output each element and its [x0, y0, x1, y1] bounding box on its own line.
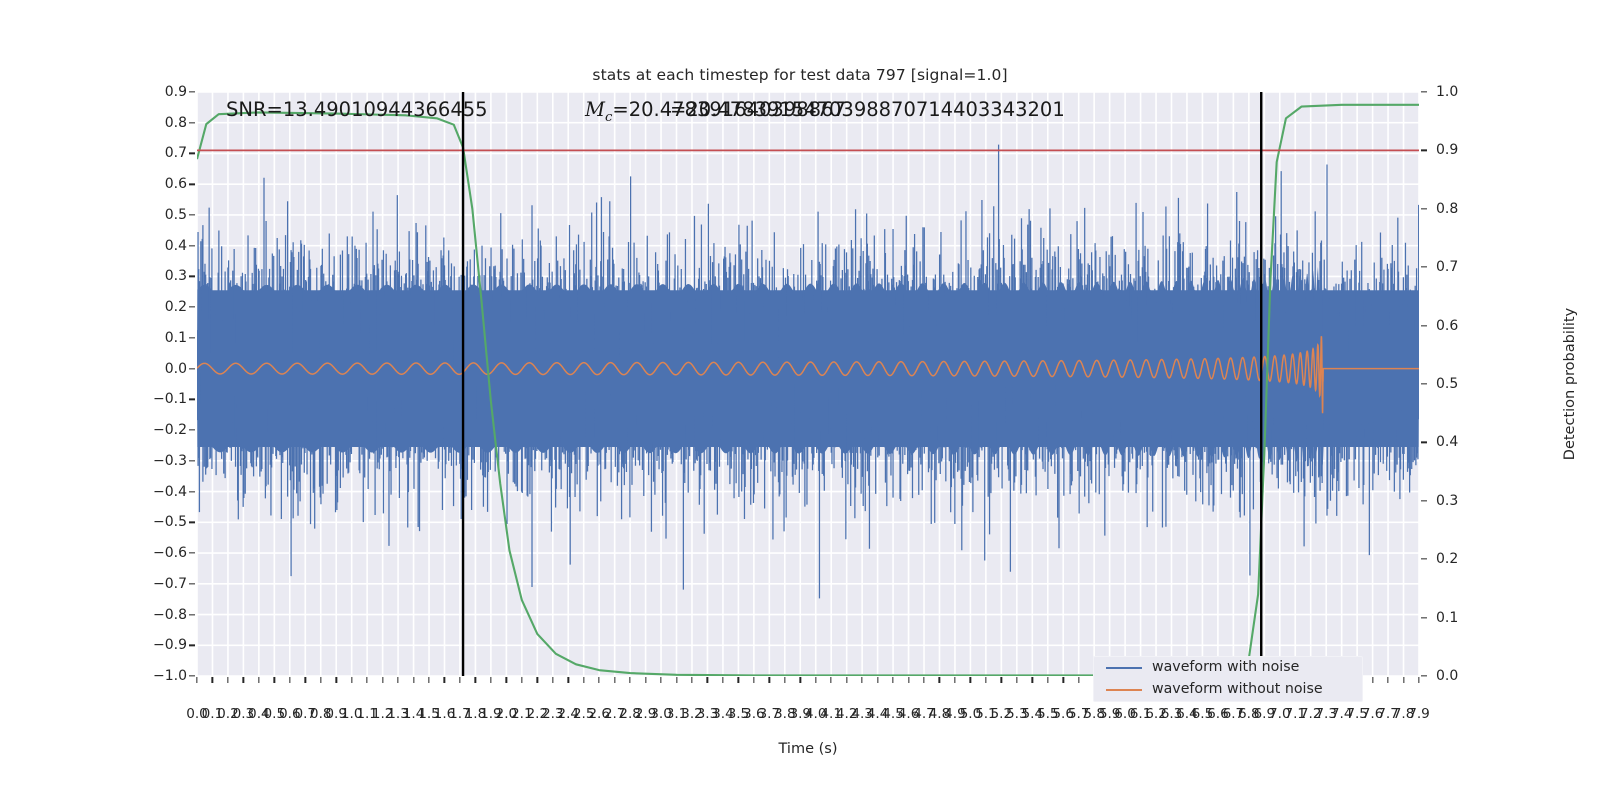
y-axis-left-tickmark: [189, 645, 195, 646]
y-axis-right-tickmark: [1421, 617, 1427, 618]
chirp-mass-annotation-b: =20.4783915470398870714403343201: [670, 98, 1065, 121]
y-axis-right-tick-label: 0.3: [1436, 493, 1458, 509]
x-axis-tickmark: [923, 677, 924, 683]
x-axis-tickmark: [707, 677, 708, 683]
x-axis-tickmark: [490, 677, 491, 683]
y-axis-left-tickmark: [189, 491, 195, 492]
x-axis-tickmark: [831, 677, 832, 683]
y-axis-left-tick-label: 0.7: [165, 145, 187, 161]
x-axis-tickmark: [954, 677, 955, 683]
legend-label: waveform without noise: [1152, 681, 1323, 697]
y-axis-right-tick-label: 0.6: [1436, 318, 1458, 334]
x-axis-tickmark: [506, 677, 507, 683]
y-axis-right-tickmark: [1421, 325, 1427, 326]
figure-canvas: stats at each timestep for test data 797…: [0, 0, 1600, 800]
x-axis-tickmark: [660, 677, 661, 683]
x-axis-tickmark: [444, 677, 445, 683]
y-axis-right-tickmark: [1421, 442, 1427, 443]
y-axis-left-tickmark: [189, 460, 195, 461]
y-axis-left-tick-label: 0.3: [165, 268, 187, 284]
y-axis-left-tick-label: −0.1: [153, 391, 187, 407]
y-axis-left-tickmark: [189, 91, 195, 92]
x-axis-tickmark: [1418, 677, 1419, 683]
y-axis-left-tickmark: [189, 337, 195, 338]
x-axis-tickmark: [1063, 677, 1064, 683]
x-axis-tickmark: [614, 677, 615, 683]
x-axis-tickmark: [320, 677, 321, 683]
x-axis-tickmark: [985, 677, 986, 683]
y-axis-right-tickmark: [1421, 383, 1427, 384]
y-axis-left-tickmark: [189, 245, 195, 246]
y-axis-left-tick-label: −0.2: [153, 422, 187, 438]
x-axis-tickmark: [676, 677, 677, 683]
x-axis-tickmark: [351, 677, 352, 683]
y-axis-left-tickmark: [189, 583, 195, 584]
y-axis-right-tickmark: [1421, 500, 1427, 501]
x-axis-tickmark: [1387, 677, 1388, 683]
y-axis-left-tick-label: −0.4: [153, 484, 187, 500]
plot-area: [197, 92, 1419, 676]
page-title: stats at each timestep for test data 797…: [0, 66, 1600, 84]
x-axis-tickmark: [459, 677, 460, 683]
legend: waveform with noisewaveform without nois…: [1093, 656, 1363, 702]
y-axis-left-tick-label: −0.8: [153, 607, 187, 623]
x-axis-tickmark: [1032, 677, 1033, 683]
y-axis-right-tick-label: 0.7: [1436, 259, 1458, 275]
x-axis-tickmark: [939, 677, 940, 683]
x-axis-tickmark: [645, 677, 646, 683]
x-axis-tickmark: [243, 677, 244, 683]
y-axis-right-tick-label: 0.1: [1436, 610, 1458, 626]
x-axis-tickmark: [1372, 677, 1373, 683]
x-axis-label: Time (s): [779, 741, 838, 757]
y-axis-left-tickmark: [189, 184, 195, 185]
y-axis-left-tickmark: [189, 522, 195, 523]
x-axis-tickmark: [413, 677, 414, 683]
y-axis-left-tick-label: 0.8: [165, 115, 187, 131]
legend-color-swatch: [1106, 667, 1142, 669]
x-axis-tickmark: [428, 677, 429, 683]
y-axis-right-tickmark: [1421, 208, 1427, 209]
y-axis-right-tick-label: 0.9: [1436, 142, 1458, 158]
y-axis-left-tick-label: −0.7: [153, 576, 187, 592]
y-axis-right-tick-label: 0.8: [1436, 201, 1458, 217]
x-axis-tickmark: [691, 677, 692, 683]
x-axis-tickmark: [382, 677, 383, 683]
x-axis-tickmark: [800, 677, 801, 683]
chirp-mass-value-b: =20.4783915470398870714403343201: [670, 98, 1065, 121]
legend-item[interactable]: waveform without noise: [1094, 679, 1362, 701]
y-axis-left-tick-label: 0.4: [165, 238, 187, 254]
y-axis-left-tickmark: [189, 552, 195, 553]
x-axis-tickmark: [196, 677, 197, 683]
legend-item[interactable]: waveform with noise: [1094, 657, 1362, 679]
y-axis-right-tickmark: [1421, 559, 1427, 560]
x-axis-tickmark: [629, 677, 630, 683]
x-axis-tickmark: [336, 677, 337, 683]
y-axis-left-tick-label: −0.3: [153, 453, 187, 469]
x-axis-tickmark: [258, 677, 259, 683]
y-axis-left-tick-label: 0.1: [165, 330, 187, 346]
x-axis-tickmark: [552, 677, 553, 683]
x-axis-tickmark: [227, 677, 228, 683]
x-axis-tickmark: [722, 677, 723, 683]
y-axis-right-tickmark: [1421, 267, 1427, 268]
chirp-mass-symbol: Mc: [585, 98, 612, 121]
y-axis-left-tick-label: 0.6: [165, 176, 187, 192]
x-axis-tickmark: [846, 677, 847, 683]
x-axis-tickmark: [815, 677, 816, 683]
y-axis-right-tick-label: 0.2: [1436, 551, 1458, 567]
y-axis-right-tick-label: 0.5: [1436, 376, 1458, 392]
y-axis-left-tickmark: [189, 614, 195, 615]
y-axis-right-tickmark: [1421, 91, 1427, 92]
y-axis-left-tick-label: 0.0: [165, 361, 187, 377]
y-axis-left-tickmark: [189, 214, 195, 215]
y-axis-left-tick-label: −0.5: [153, 514, 187, 530]
y-axis-right-tickmark: [1421, 675, 1427, 676]
x-axis-tickmark: [274, 677, 275, 683]
y-axis-right-label: Detection probability: [1562, 308, 1578, 460]
x-axis-tickmark: [1016, 677, 1017, 683]
x-axis-tickmark: [521, 677, 522, 683]
y-axis-left-tick-label: 0.5: [165, 207, 187, 223]
y-axis-left-tick-label: 0.2: [165, 299, 187, 315]
x-axis-tickmark: [877, 677, 878, 683]
x-axis-tickmark: [397, 677, 398, 683]
x-axis-tickmark: [1403, 677, 1404, 683]
x-axis-tickmark: [289, 677, 290, 683]
y-axis-right-tick-label: 1.0: [1436, 84, 1458, 100]
x-axis-tick-label: 7.9: [1408, 706, 1430, 722]
x-axis-tickmark: [892, 677, 893, 683]
y-axis-right-tick-label: 0.0: [1436, 668, 1458, 684]
y-axis-left-tickmark: [189, 307, 195, 308]
x-axis-tickmark: [1078, 677, 1079, 683]
x-axis-tickmark: [305, 677, 306, 683]
x-axis-tickmark: [583, 677, 584, 683]
y-axis-left-tick-label: −0.9: [153, 637, 187, 653]
x-axis-tickmark: [861, 677, 862, 683]
x-axis-tickmark: [908, 677, 909, 683]
y-axis-left-tickmark: [189, 276, 195, 277]
x-axis-tickmark: [769, 677, 770, 683]
x-axis-tickmark: [1001, 677, 1002, 683]
y-axis-right-tickmark: [1421, 150, 1427, 151]
x-axis-tickmark: [475, 677, 476, 683]
x-axis-tickmark: [212, 677, 213, 683]
overlay-layer: [197, 92, 1419, 676]
x-axis-tickmark: [784, 677, 785, 683]
y-axis-left-tickmark: [189, 675, 195, 676]
x-axis-tickmark: [568, 677, 569, 683]
y-axis-left-tick-label: −1.0: [153, 668, 187, 684]
x-axis-tickmark: [1047, 677, 1048, 683]
y-axis-right-tick-label: 0.4: [1436, 434, 1458, 450]
y-axis-left-tickmark: [189, 429, 195, 430]
x-axis-tickmark: [753, 677, 754, 683]
x-axis-tickmark: [599, 677, 600, 683]
x-axis-tickmark: [738, 677, 739, 683]
legend-label: waveform with noise: [1152, 659, 1299, 675]
x-axis-tickmark: [970, 677, 971, 683]
legend-color-swatch: [1106, 689, 1142, 691]
y-axis-left-tick-label: −0.6: [153, 545, 187, 561]
y-axis-left-tickmark: [189, 153, 195, 154]
y-axis-left-tickmark: [189, 368, 195, 369]
y-axis-left-tickmark: [189, 399, 195, 400]
x-axis-tickmark: [537, 677, 538, 683]
y-axis-left-tick-label: 0.9: [165, 84, 187, 100]
x-axis-tickmark: [366, 677, 367, 683]
snr-annotation: SNR=13.49010944366455: [226, 98, 488, 121]
y-axis-left-tickmark: [189, 122, 195, 123]
